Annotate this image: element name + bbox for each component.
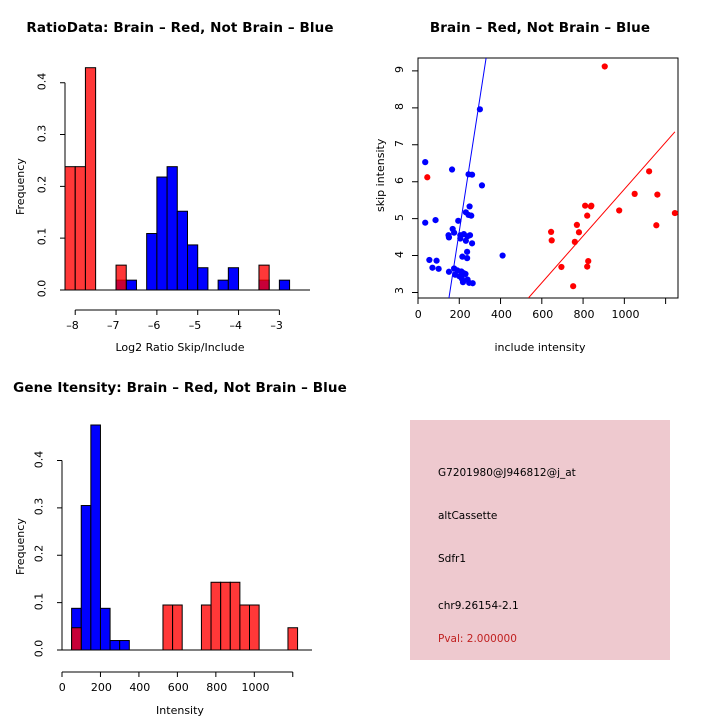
histogram-bar xyxy=(250,605,260,650)
scatter-point xyxy=(602,63,608,69)
ratio-y-tick: 0.3 xyxy=(35,124,48,142)
regression-line xyxy=(449,58,486,298)
scatter-point xyxy=(451,230,457,236)
gene-histogram-svg xyxy=(0,360,360,720)
scatter-point xyxy=(468,213,474,219)
scatter-point xyxy=(455,218,461,224)
scatter-point xyxy=(558,264,564,270)
scatter-point xyxy=(470,280,476,286)
scatter-x-tick: 400 xyxy=(491,308,512,321)
scatter-point xyxy=(467,232,473,238)
gene-x-axis-label: Intensity xyxy=(0,704,360,717)
gene-y-tick: 0.0 xyxy=(32,640,45,658)
histogram-bar xyxy=(177,211,187,290)
pval-text: Pval: 2.000000 xyxy=(438,633,517,645)
ratio-y-axis xyxy=(60,83,65,290)
scatter-y-tick: 5 xyxy=(393,214,406,221)
scatter-y-tick: 8 xyxy=(393,103,406,110)
histogram-bar xyxy=(221,582,231,650)
ratio-y-tick: 0.4 xyxy=(35,72,48,90)
scatter-point xyxy=(479,182,485,188)
scatter-point xyxy=(585,258,591,264)
scatter-point xyxy=(464,255,470,261)
scatter-point xyxy=(433,258,439,264)
scatter-y-tick: 9 xyxy=(393,66,406,73)
ratio-x-tick: –8 xyxy=(66,319,79,332)
scatter-point xyxy=(446,234,452,240)
histogram-bar xyxy=(75,167,85,290)
histogram-bar xyxy=(91,425,101,650)
histogram-bar xyxy=(65,167,75,290)
scatter-point xyxy=(449,166,455,172)
scatter-point xyxy=(477,106,483,112)
gene-x-tick: 600 xyxy=(168,681,189,694)
scatter-point xyxy=(422,220,428,226)
gene-y-tick: 0.2 xyxy=(32,545,45,563)
panel-ratio-histogram: RatioData: Brain – Red, Not Brain – Blue… xyxy=(0,0,360,360)
gene-x-tick: 0 xyxy=(59,681,66,694)
scatter-point xyxy=(549,237,555,243)
scatter-x-tick: 0 xyxy=(415,308,422,321)
gene-y-axis-label: Frequency xyxy=(14,518,27,575)
scatter-point xyxy=(588,203,594,209)
gene-y-tick: 0.3 xyxy=(32,498,45,516)
scatter-point xyxy=(466,203,472,209)
scatter-point xyxy=(584,264,590,270)
gene-y-tick: 0.4 xyxy=(32,450,45,468)
scatter-y-tick: 6 xyxy=(393,177,406,184)
scatter-point xyxy=(572,239,578,245)
event-type-text: altCassette xyxy=(438,510,497,522)
ratio-x-tick: –3 xyxy=(270,319,283,332)
scatter-point xyxy=(457,235,463,241)
scatter-point xyxy=(646,168,652,174)
ratio-y-tick: 0.1 xyxy=(35,228,48,246)
ratio-x-axis-label: Log2 Ratio Skip/Include xyxy=(0,341,360,354)
histogram-bar xyxy=(120,641,130,650)
scatter-y-tick: 7 xyxy=(393,140,406,147)
histogram-bar xyxy=(157,177,167,290)
scatter-svg xyxy=(360,0,720,360)
scatter-point xyxy=(672,210,678,216)
panel-gene-intensity-histogram: Gene Itensity: Brain – Red, Not Brain – … xyxy=(0,360,360,720)
histogram-bar xyxy=(81,506,91,650)
gene-symbol-text: Sdfr1 xyxy=(438,553,466,565)
histogram-bar xyxy=(163,605,173,650)
histogram-bar xyxy=(167,167,177,290)
gene-y-axis xyxy=(57,461,62,650)
histogram-bar xyxy=(126,280,136,290)
histogram-bar xyxy=(279,280,289,290)
scatter-point xyxy=(632,191,638,197)
ratio-x-tick: –4 xyxy=(230,319,243,332)
regression-line xyxy=(528,132,675,298)
ratio-x-tick: –5 xyxy=(189,319,202,332)
scatter-point xyxy=(576,229,582,235)
gene-x-tick: 400 xyxy=(129,681,150,694)
histogram-bar xyxy=(201,605,211,650)
scatter-x-tick: 800 xyxy=(573,308,594,321)
scatter-point xyxy=(584,213,590,219)
scatter-y-tick: 4 xyxy=(393,251,406,258)
scatter-point xyxy=(570,283,576,289)
histogram-bar xyxy=(188,245,198,290)
histogram-bar xyxy=(116,265,126,290)
ratio-histogram-bars xyxy=(65,68,290,290)
histogram-bar xyxy=(72,628,82,650)
gene-y-tick: 0.1 xyxy=(32,592,45,610)
scatter-point xyxy=(548,229,554,235)
gene-x-tick: 1000 xyxy=(242,681,270,694)
ratio-x-tick: –7 xyxy=(107,319,120,332)
scatter-point xyxy=(654,192,660,198)
scatter-point xyxy=(424,174,430,180)
scatter-y-axis-label: skip intensity xyxy=(374,139,387,212)
scatter-x-axis-label: include intensity xyxy=(360,341,720,354)
scatter-point xyxy=(426,257,432,263)
histogram-bar xyxy=(198,268,208,290)
ratio-x-tick: –6 xyxy=(148,319,161,332)
scatter-x-tick: 1000 xyxy=(612,308,640,321)
scatter-point xyxy=(469,172,475,178)
gene-x-tick: 800 xyxy=(206,681,227,694)
locus-text: chr9.26154-2.1 xyxy=(438,600,519,612)
gene-histogram-bars xyxy=(72,425,298,650)
scatter-point xyxy=(582,203,588,209)
histogram-bar xyxy=(288,628,298,650)
figure-canvas: RatioData: Brain – Red, Not Brain – Blue… xyxy=(0,0,720,720)
scatter-point xyxy=(429,265,435,271)
histogram-bar xyxy=(259,265,269,290)
histogram-bar xyxy=(173,605,183,650)
scatter-point xyxy=(500,252,506,258)
histogram-bar xyxy=(147,234,157,290)
histogram-bar xyxy=(110,641,120,650)
histogram-bar xyxy=(100,608,110,650)
scatter-point xyxy=(464,249,470,255)
scatter-point xyxy=(469,240,475,246)
scatter-point xyxy=(574,222,580,228)
ratio-x-axis xyxy=(75,310,279,315)
panel-probe-info: G7201980@J946812@j_at altCassette Sdfr1 … xyxy=(360,360,720,720)
scatter-point xyxy=(463,238,469,244)
histogram-bar xyxy=(240,605,250,650)
scatter-point xyxy=(432,217,438,223)
scatter-point xyxy=(616,207,622,213)
scatter-plot-frame xyxy=(418,58,678,298)
panel-intensity-scatter: Brain – Red, Not Brain – Blue 0200400600… xyxy=(360,0,720,360)
histogram-bar xyxy=(228,268,238,290)
ratio-y-tick: 0.0 xyxy=(35,280,48,298)
scatter-point xyxy=(422,159,428,165)
scatter-point xyxy=(653,222,659,228)
scatter-x-tick: 600 xyxy=(532,308,553,321)
scatter-point xyxy=(446,269,452,275)
scatter-data-points xyxy=(422,63,678,289)
ratio-y-axis-label: Frequency xyxy=(14,158,27,215)
gene-x-tick: 200 xyxy=(91,681,112,694)
histogram-bar xyxy=(230,582,240,650)
ratio-y-tick: 0.2 xyxy=(35,176,48,194)
scatter-fit-lines xyxy=(449,58,675,298)
histogram-bar xyxy=(211,582,221,650)
gene-x-axis xyxy=(62,672,293,677)
scatter-point xyxy=(460,279,466,285)
scatter-y-tick: 3 xyxy=(393,287,406,294)
scatter-point xyxy=(436,266,442,272)
probe-info-box: G7201980@J946812@j_at altCassette Sdfr1 … xyxy=(410,420,670,660)
histogram-bar xyxy=(85,68,95,290)
ratio-histogram-svg xyxy=(0,0,360,360)
probe-id-text: G7201980@J946812@j_at xyxy=(438,467,576,479)
histogram-bar xyxy=(218,280,228,290)
scatter-x-tick: 200 xyxy=(450,308,471,321)
